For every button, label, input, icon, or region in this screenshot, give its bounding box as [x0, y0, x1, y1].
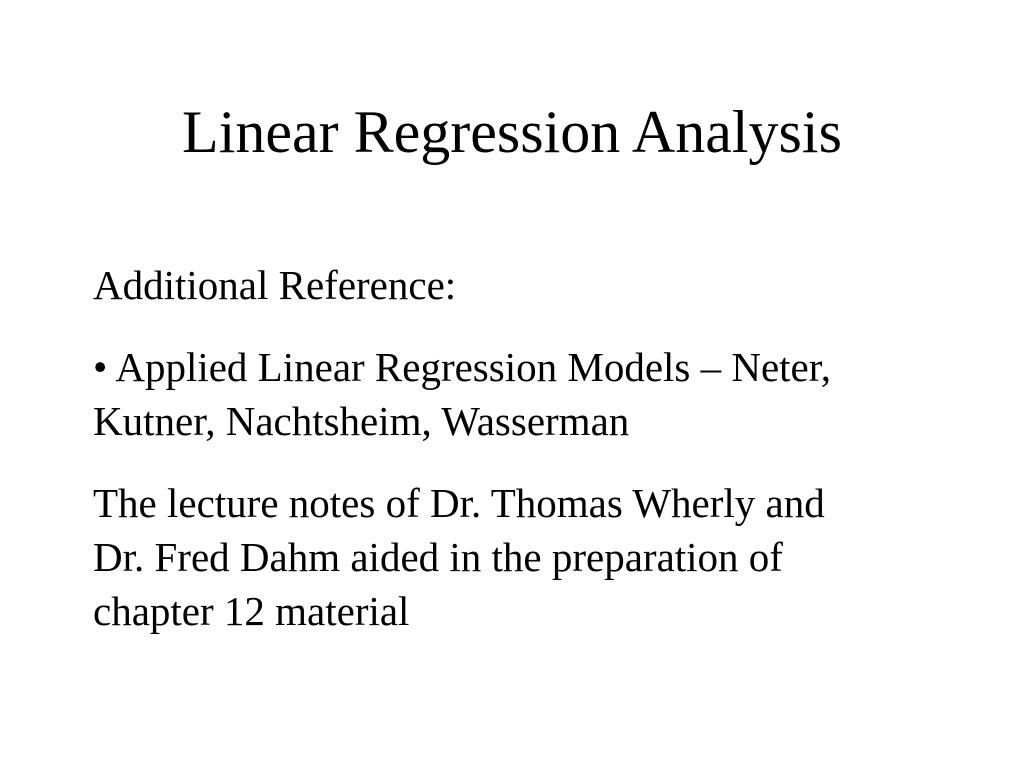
slide-body-content: Additional Reference: • Applied Linear R…: [93, 258, 953, 638]
additional-reference-heading: Additional Reference:: [93, 258, 953, 312]
text-line: Additional Reference:: [93, 258, 953, 312]
text-line: • Applied Linear Regression Models – Net…: [93, 340, 953, 394]
text-line: Dr. Fred Dahm aided in the preparation o…: [93, 530, 953, 584]
presentation-slide: Linear Regression Analysis Additional Re…: [0, 0, 1024, 768]
page-title: Linear Regression Analysis: [0, 98, 1024, 166]
acknowledgement: The lecture notes of Dr. Thomas Wherly a…: [93, 476, 953, 638]
text-line: chapter 12 material: [93, 584, 953, 638]
text-line: The lecture notes of Dr. Thomas Wherly a…: [93, 476, 953, 530]
reference-bullet: • Applied Linear Regression Models – Net…: [93, 340, 953, 448]
text-line: Kutner, Nachtsheim, Wasserman: [93, 394, 953, 448]
